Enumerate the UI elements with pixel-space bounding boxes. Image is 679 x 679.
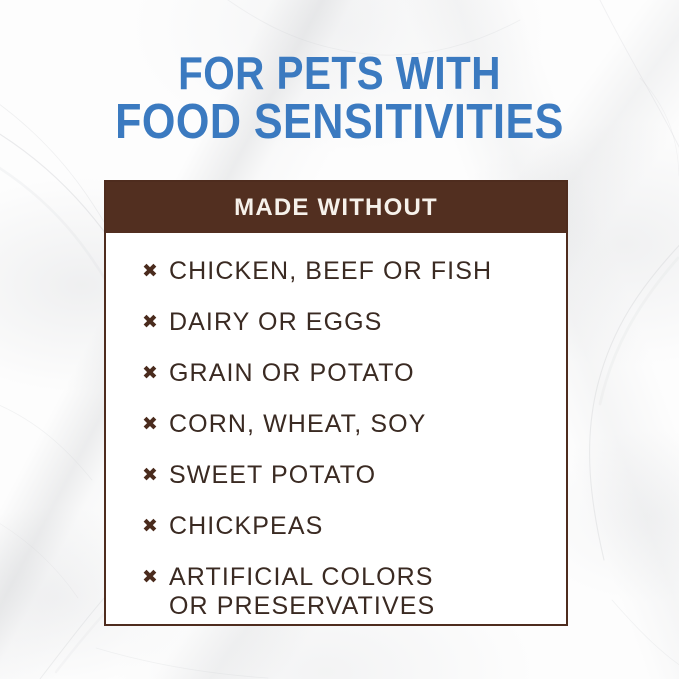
cross-mark-icon: ✖	[142, 461, 160, 489]
list-item: ✖ CHICKEN, BEEF OR FISH	[142, 257, 566, 286]
made-without-card: MADE WITHOUT ✖ CHICKEN, BEEF OR FISH ✖ D…	[104, 180, 568, 626]
list-item-label: GRAIN OR POTATO	[160, 359, 415, 388]
list-item-label: CHICKPEAS	[160, 512, 323, 541]
list-item-label: SWEET POTATO	[160, 461, 376, 490]
list-item: ✖ SWEET POTATO	[142, 461, 566, 490]
cross-mark-icon: ✖	[142, 257, 160, 285]
cross-mark-icon: ✖	[142, 410, 160, 438]
list-item: ✖ ARTIFICIAL COLORS OR PRESERVATIVES	[142, 563, 566, 621]
list-item-label: DAIRY OR EGGS	[160, 308, 382, 337]
list-item-label: CHICKEN, BEEF OR FISH	[160, 257, 492, 286]
card-header: MADE WITHOUT	[106, 182, 566, 233]
headline-line-2: FOOD SENSITIVITIES	[41, 98, 639, 147]
list-item: ✖ GRAIN OR POTATO	[142, 359, 566, 388]
cross-mark-icon: ✖	[142, 308, 160, 336]
cross-mark-icon: ✖	[142, 512, 160, 540]
headline-line-1: FOR PETS WITH	[41, 49, 639, 98]
product-feature-graphic: FOR PETS WITH FOOD SENSITIVITIES MADE WI…	[0, 0, 679, 679]
list-item-label: CORN, WHEAT, SOY	[160, 410, 426, 439]
list-item: ✖ DAIRY OR EGGS	[142, 308, 566, 337]
cross-mark-icon: ✖	[142, 563, 160, 591]
cross-mark-icon: ✖	[142, 359, 160, 387]
list-item: ✖ CORN, WHEAT, SOY	[142, 410, 566, 439]
exclusions-list: ✖ CHICKEN, BEEF OR FISH ✖ DAIRY OR EGGS …	[106, 257, 566, 621]
headline: FOR PETS WITH FOOD SENSITIVITIES	[41, 49, 639, 147]
list-item: ✖ CHICKPEAS	[142, 512, 566, 541]
card-header-title: MADE WITHOUT	[234, 194, 438, 222]
card-body: ✖ CHICKEN, BEEF OR FISH ✖ DAIRY OR EGGS …	[106, 233, 566, 626]
list-item-label: ARTIFICIAL COLORS OR PRESERVATIVES	[160, 563, 435, 621]
